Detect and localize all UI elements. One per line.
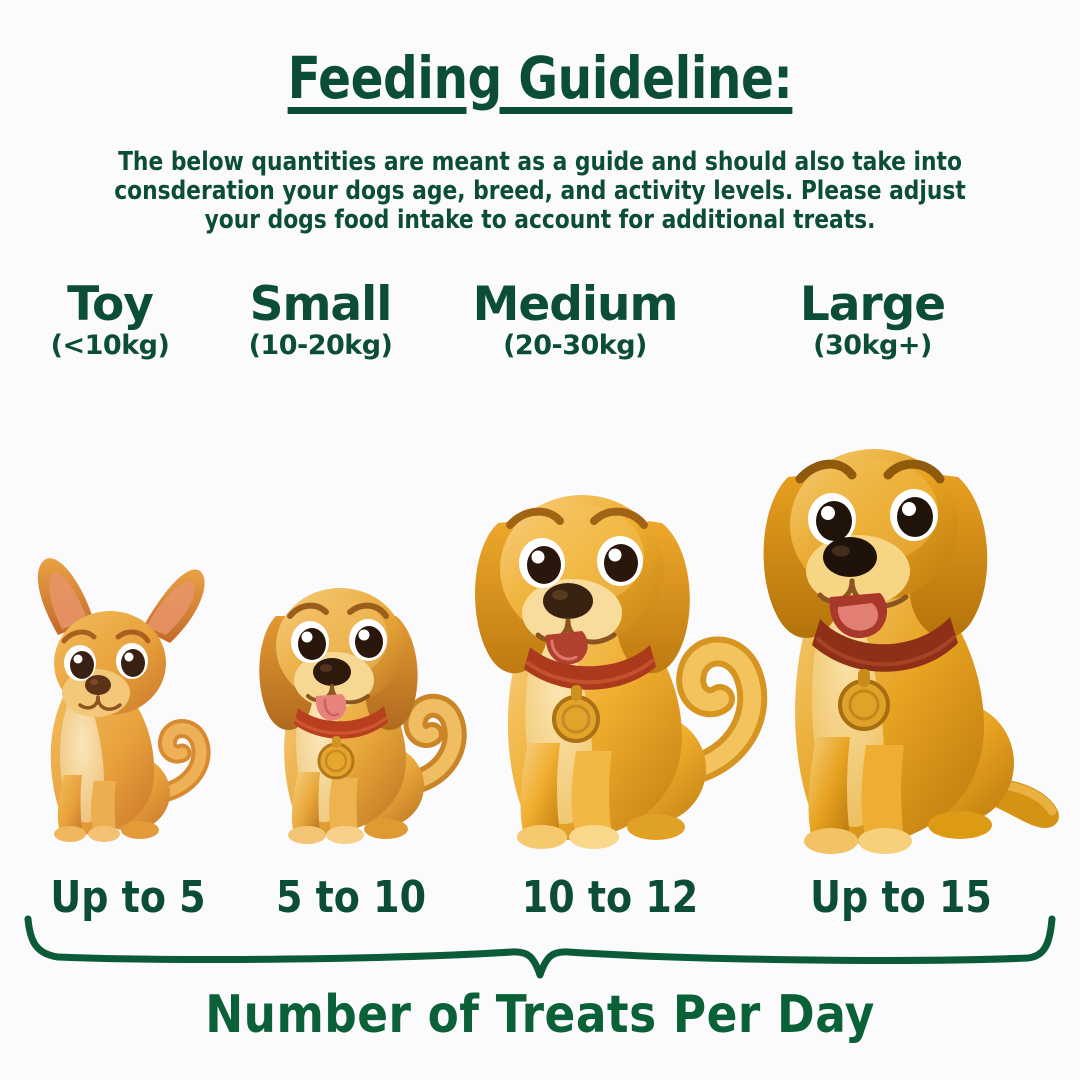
size-name-toy: Toy — [10, 280, 210, 330]
size-weight-medium: (20-30kg) — [455, 330, 695, 362]
dog-illustration-large — [740, 405, 1070, 863]
size-name-large: Large — [760, 280, 985, 330]
size-header-small: Small (10-20kg) — [218, 280, 423, 362]
dog-illustration-medium — [444, 443, 774, 863]
intro-paragraph: The below quantities are meant as a guid… — [98, 148, 982, 235]
size-header-medium: Medium (20-30kg) — [455, 280, 695, 362]
brace-bracket — [0, 905, 1080, 990]
size-header-large: Large (30kg+) — [760, 280, 985, 362]
size-weight-large: (30kg+) — [760, 330, 985, 362]
dog-illustration-small — [228, 524, 478, 863]
bottom-caption: Number of Treats Per Day — [16, 985, 1064, 1045]
page-title: Feeding Guideline: — [38, 44, 1042, 112]
feeding-guideline-infographic: Feeding Guideline: The below quantities … — [0, 0, 1080, 1080]
size-weight-toy: (<10kg) — [10, 330, 210, 362]
size-weight-small: (10-20kg) — [218, 330, 423, 362]
size-name-small: Small — [218, 280, 423, 330]
size-name-medium: Medium — [455, 280, 695, 330]
size-header-toy: Toy (<10kg) — [10, 280, 210, 362]
dog-illustration-toy — [2, 545, 232, 863]
